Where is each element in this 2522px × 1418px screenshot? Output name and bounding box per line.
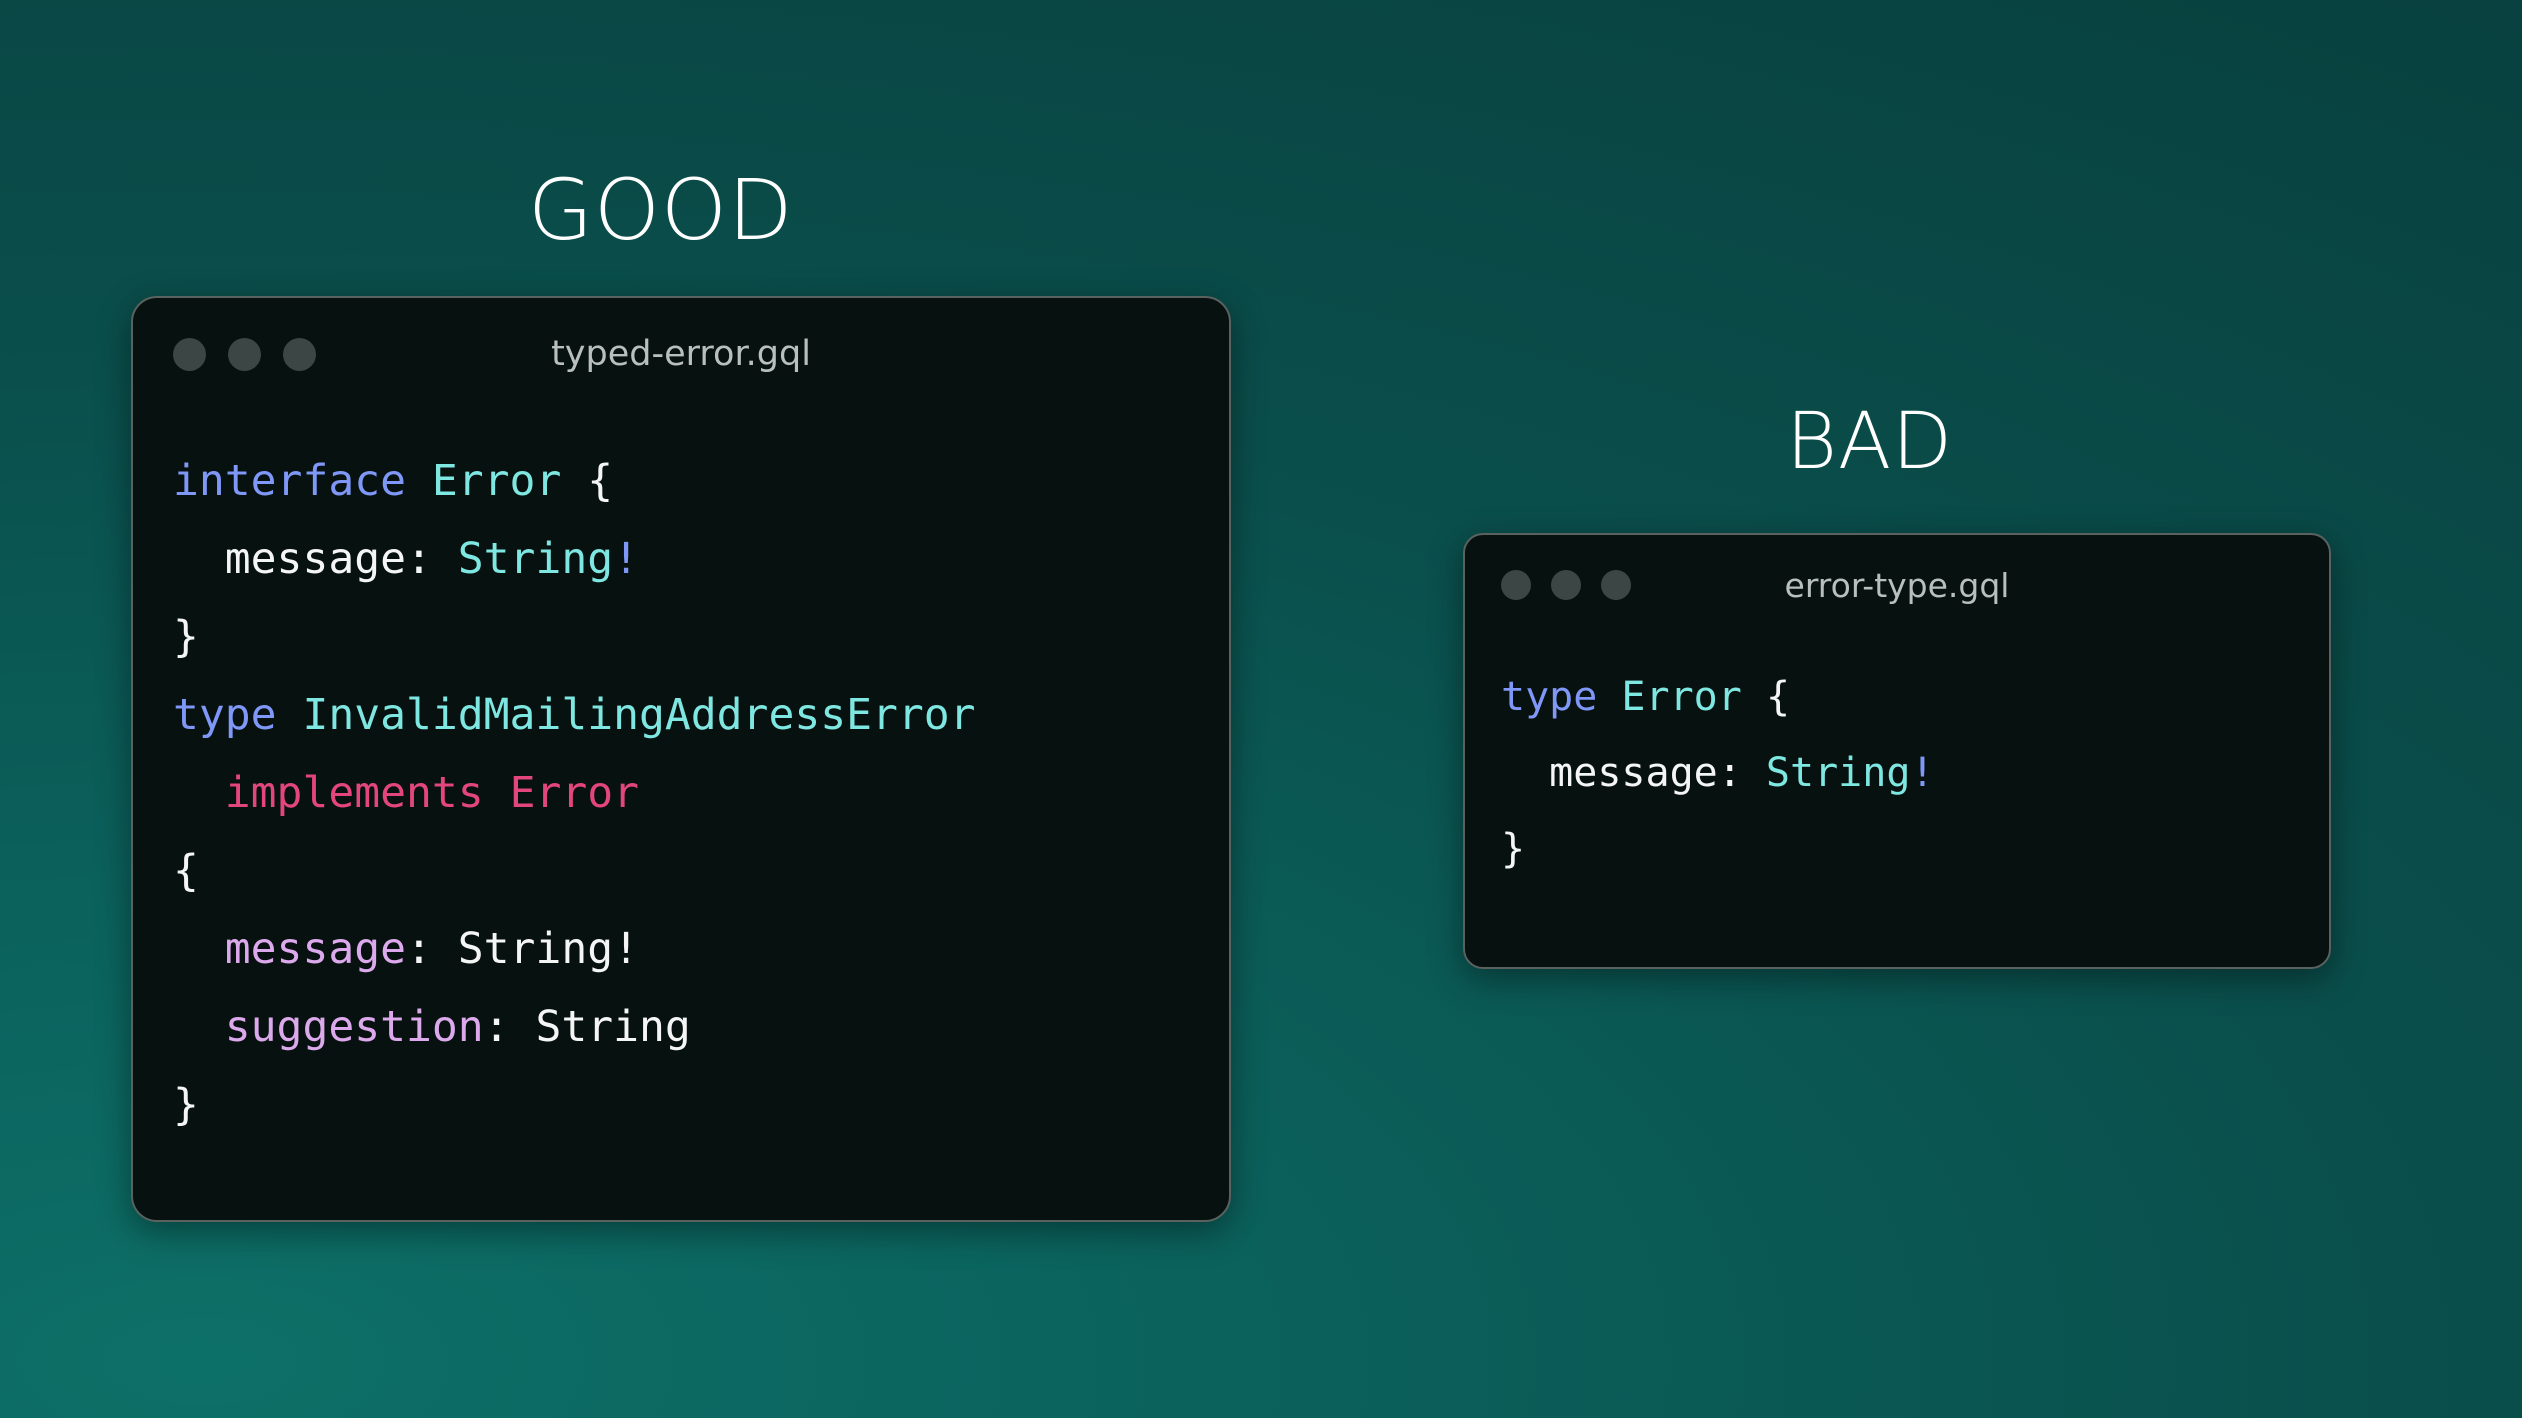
minimize-dot-icon[interactable] [228,338,261,371]
maximize-dot-icon[interactable] [283,338,316,371]
code-token: message [225,924,406,974]
code-token: } [1501,826,1525,872]
code-token [173,534,225,584]
code-line: interface Error { [173,442,1189,520]
code-token: String [1766,750,1911,796]
code-line: } [173,598,1189,676]
window-titlebar-good: typed-error.gql [133,298,1229,410]
traffic-lights-good [173,338,316,371]
code-body-good: interface Error { message: String!}type … [133,410,1229,1144]
code-token [173,1002,225,1052]
code-body-bad: type Error { message: String!} [1465,635,2329,887]
traffic-lights-bad [1501,570,1631,600]
code-line: type InvalidMailingAddressError [173,676,1189,754]
code-token: String [458,534,613,584]
code-token: { [587,456,613,506]
code-token: ! [613,534,639,584]
code-line: message: String! [173,520,1189,598]
code-token: : [1718,750,1766,796]
code-line: suggestion: String [173,988,1189,1066]
code-window-bad: error-type.gql type Error { message: Str… [1463,533,2331,969]
code-token: Error [1621,674,1741,720]
caption-bad: BAD [1786,403,1953,481]
code-token: : [406,534,458,584]
code-token [1742,674,1766,720]
code-token [561,456,587,506]
code-window-good: typed-error.gql interface Error { messag… [131,296,1231,1222]
code-token: InvalidMailingAddressError [302,690,975,740]
code-token: Error [432,456,561,506]
code-token: { [173,846,199,896]
close-dot-icon[interactable] [1501,570,1531,600]
code-token: suggestion [225,1002,484,1052]
code-token [173,924,225,974]
code-line: message: String! [1501,735,2293,811]
code-token [1597,674,1621,720]
code-token [173,768,225,818]
code-token [277,690,303,740]
window-titlebar-bad: error-type.gql [1465,535,2329,635]
code-token: String [535,1002,690,1052]
code-token: Error [510,768,639,818]
code-line: message: String! [173,910,1189,988]
code-token: String! [458,924,639,974]
code-line: } [173,1066,1189,1144]
close-dot-icon[interactable] [173,338,206,371]
code-token: interface [173,456,406,506]
code-token: { [1766,674,1790,720]
code-token: : [406,924,458,974]
code-token: type [173,690,277,740]
code-token [484,768,510,818]
code-token: implements [225,768,484,818]
code-token: type [1501,674,1597,720]
code-line: implements Error [173,754,1189,832]
minimize-dot-icon[interactable] [1551,570,1581,600]
code-token: } [173,612,199,662]
code-token: message [1549,750,1718,796]
code-token: ! [1910,750,1934,796]
code-line: } [1501,811,2293,887]
code-token: : [484,1002,536,1052]
code-token: message [225,534,406,584]
maximize-dot-icon[interactable] [1601,570,1631,600]
code-line: { [173,832,1189,910]
code-line: type Error { [1501,659,2293,735]
caption-good: GOOD [528,168,793,252]
code-token [1501,750,1549,796]
code-token [406,456,432,506]
code-token: } [173,1080,199,1130]
